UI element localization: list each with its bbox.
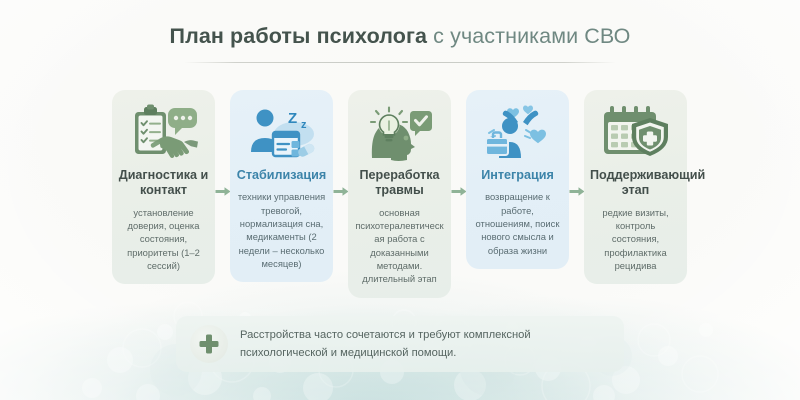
connector-1	[215, 90, 230, 296]
arrow-right-icon	[569, 186, 584, 197]
connector-2	[333, 90, 348, 296]
note-banner: Расстройства часто сочетаются и требуют …	[176, 316, 624, 372]
svg-text:Z: Z	[288, 110, 297, 127]
page-title: План работы психолога с участниками СВО	[0, 24, 800, 49]
header: План работы психолога с участниками СВО	[0, 24, 800, 63]
page-title-strong: План работы психолога	[170, 24, 428, 48]
connector-3	[451, 90, 466, 296]
note-text: Расстройства часто сочетаются и требуют …	[240, 326, 608, 362]
stage-cards-row: Диагностика и контакт установление довер…	[112, 90, 690, 296]
arrow-right-icon	[451, 186, 466, 197]
svg-text:z: z	[301, 119, 307, 131]
calendar-shield-plus-icon	[588, 102, 683, 164]
page-title-light: с участниками СВО	[433, 24, 630, 48]
stage-title: Стабилизация	[234, 168, 329, 183]
stage-card-pererabotka-travmy[interactable]: Переработка травмы основная психотералев…	[348, 90, 451, 298]
head-lightbulb-check-icon	[352, 102, 447, 164]
title-divider	[184, 62, 616, 63]
arrow-right-icon	[215, 186, 230, 197]
connector-4	[569, 90, 584, 296]
clipboard-checklist-handshake-icon	[116, 102, 211, 164]
stage-title: Диагностика и контакт	[116, 168, 211, 199]
infographic-canvas: План работы психолога с участниками СВО	[0, 0, 800, 400]
stage-card-stabilizaciya[interactable]: Z z	[230, 90, 333, 282]
stage-card-diagnostika[interactable]: Диагностика и контакт установление довер…	[112, 90, 215, 284]
medical-cross-icon	[190, 325, 228, 363]
stage-title: Поддерживающий этап	[588, 168, 683, 199]
stage-body: основная психотералевтическая работа с д…	[352, 206, 447, 286]
stage-body: возвращение к работе, отношениям, поиск …	[470, 190, 565, 257]
stage-body: техники управления тревогой, нормализаци…	[234, 190, 329, 270]
stage-body: редкие визиты, контроль состояния, профи…	[588, 206, 683, 273]
stage-card-integraciya[interactable]: Интеграция возвращение к работе, отношен…	[466, 90, 569, 269]
person-hearts-briefcase-icon	[470, 102, 565, 164]
stage-card-podderzhivayushchiy-etap[interactable]: Поддерживающий этап редкие визиты, контр…	[584, 90, 687, 284]
stage-body: установление доверия, оценка состояния, …	[116, 206, 211, 273]
stage-title: Переработка травмы	[352, 168, 447, 199]
stage-title: Интеграция	[470, 168, 565, 183]
arrow-right-icon	[333, 186, 348, 197]
person-sleep-medication-icon: Z z	[234, 102, 329, 164]
